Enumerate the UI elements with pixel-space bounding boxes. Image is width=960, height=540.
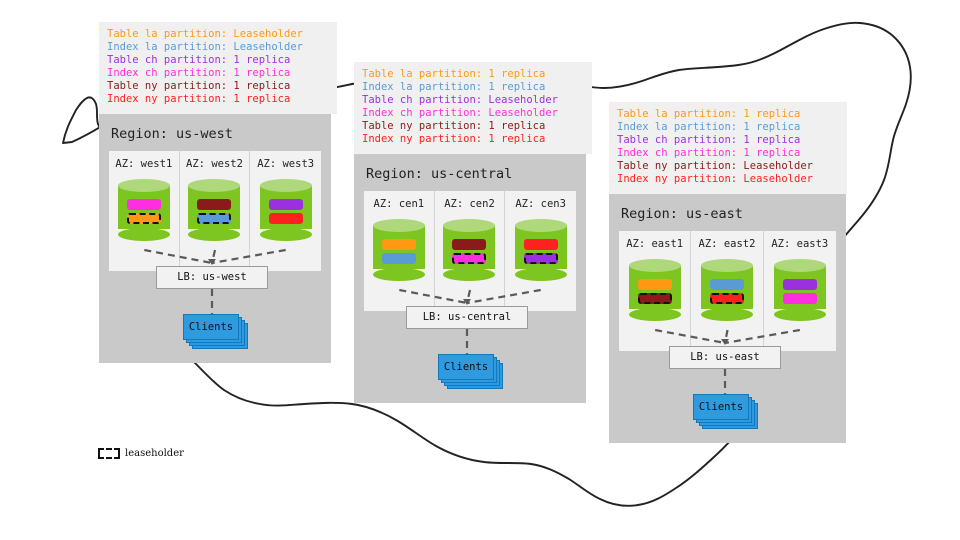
partition-band-replica: [638, 279, 672, 290]
database-cylinder: [188, 179, 240, 241]
az-cell-east1: AZ: east1: [619, 231, 691, 351]
cylinder-bottom: [260, 228, 312, 241]
legend-line: Index la partition: 1 replica: [362, 81, 584, 94]
az-label: AZ: cen2: [444, 198, 495, 210]
cylinder-bottom: [118, 228, 170, 241]
az-cell-west2: AZ: west2: [180, 151, 251, 271]
leaseholder-key-legend: leaseholder: [98, 448, 184, 459]
region-title: Region: us-east: [609, 194, 846, 222]
cylinder-bottom: [373, 268, 425, 281]
partition-legend-us-central: Table la partition: 1 replicaIndex la pa…: [354, 62, 592, 154]
cylinder-bottom: [629, 308, 681, 321]
legend-line: Index ny partition: 1 replica: [362, 133, 584, 146]
cylinder-top: [629, 259, 681, 272]
az-label: AZ: west2: [186, 158, 243, 170]
legend-line: Table ch partition: 1 replica: [617, 134, 839, 147]
partition-band-replica: [783, 293, 817, 304]
load-balancer-box-us-west[interactable]: LB: us-west: [156, 266, 268, 289]
cylinder-bottom: [515, 268, 567, 281]
database-cylinder: [260, 179, 312, 241]
cylinder-bottom: [188, 228, 240, 241]
az-strip: AZ: cen1AZ: cen2AZ: cen3: [364, 191, 576, 311]
legend-line: Table ny partition: 1 replica: [107, 80, 329, 93]
partition-band-replica: [710, 279, 744, 290]
az-cell-cen1: AZ: cen1: [364, 191, 435, 311]
legend-line: Index ny partition: Leaseholder: [617, 173, 839, 186]
region-title: Region: us-central: [354, 154, 586, 182]
az-cell-east2: AZ: east2: [691, 231, 763, 351]
partition-legend-us-east: Table la partition: 1 replicaIndex la pa…: [609, 102, 847, 194]
partition-legend-us-west: Table la partition: LeaseholderIndex la …: [99, 22, 337, 114]
region-title: Region: us-west: [99, 114, 331, 142]
clients-stack-us-central[interactable]: Clients: [438, 354, 503, 389]
az-cell-cen3: AZ: cen3: [505, 191, 576, 311]
cylinder-top: [774, 259, 826, 272]
az-label: AZ: west1: [115, 158, 172, 170]
cylinder-top: [515, 219, 567, 232]
partition-band-replica: [382, 253, 416, 264]
cylinder-top: [373, 219, 425, 232]
az-label: AZ: east3: [771, 238, 828, 250]
partition-band-replica: [524, 239, 558, 250]
partition-band-leaseholder: [524, 253, 558, 264]
cylinder-bottom: [774, 308, 826, 321]
partition-band-replica: [452, 239, 486, 250]
region-group-us-west: Table la partition: LeaseholderIndex la …: [99, 22, 337, 363]
az-label: AZ: east1: [626, 238, 683, 250]
partition-band-replica: [269, 213, 303, 224]
legend-line: Index la partition: Leaseholder: [107, 41, 329, 54]
az-strip: AZ: west1AZ: west2AZ: west3: [109, 151, 321, 271]
az-cell-cen2: AZ: cen2: [435, 191, 506, 311]
region-panel-us-west: Region: us-westAZ: west1AZ: west2AZ: wes…: [99, 114, 331, 363]
legend-line: Table la partition: 1 replica: [617, 108, 839, 121]
partition-band-replica: [382, 239, 416, 250]
partition-band-leaseholder: [710, 293, 744, 304]
database-cylinder: [443, 219, 495, 281]
az-label: AZ: east2: [699, 238, 756, 250]
cylinder-top: [118, 179, 170, 192]
az-cell-east3: AZ: east3: [764, 231, 836, 351]
az-cell-west1: AZ: west1: [109, 151, 180, 271]
az-label: AZ: west3: [257, 158, 314, 170]
cylinder-top: [188, 179, 240, 192]
partition-band-replica: [269, 199, 303, 210]
cylinder-bottom: [443, 268, 495, 281]
legend-line: Table la partition: 1 replica: [362, 68, 584, 81]
database-cylinder: [515, 219, 567, 281]
load-balancer-box-us-east[interactable]: LB: us-east: [669, 346, 781, 369]
region-group-us-east: Table la partition: 1 replicaIndex la pa…: [609, 102, 847, 443]
load-balancer-box-us-central[interactable]: LB: us-central: [406, 306, 528, 329]
legend-line: Index ny partition: 1 replica: [107, 93, 329, 106]
cylinder-bottom: [701, 308, 753, 321]
database-cylinder: [373, 219, 425, 281]
partition-band-leaseholder: [197, 213, 231, 224]
legend-line: Index ch partition: 1 replica: [617, 147, 839, 160]
az-cell-west3: AZ: west3: [250, 151, 321, 271]
leaseholder-key-label: leaseholder: [125, 448, 184, 459]
region-panel-us-east: Region: us-eastAZ: east1AZ: east2AZ: eas…: [609, 194, 846, 443]
clients-stack-us-east[interactable]: Clients: [693, 394, 758, 429]
legend-line: Index ch partition: 1 replica: [107, 67, 329, 80]
partition-band-leaseholder: [452, 253, 486, 264]
cylinder-top: [701, 259, 753, 272]
partition-band-replica: [783, 279, 817, 290]
partition-band-leaseholder: [127, 213, 161, 224]
legend-line: Index la partition: 1 replica: [617, 121, 839, 134]
az-strip: AZ: east1AZ: east2AZ: east3: [619, 231, 836, 351]
partition-band-replica: [127, 199, 161, 210]
database-cylinder: [118, 179, 170, 241]
az-label: AZ: cen1: [374, 198, 425, 210]
legend-line: Table ny partition: 1 replica: [362, 120, 584, 133]
cylinder-top: [443, 219, 495, 232]
database-cylinder: [629, 259, 681, 321]
partition-band-replica: [197, 199, 231, 210]
region-group-us-central: Table la partition: 1 replicaIndex la pa…: [354, 62, 592, 403]
database-cylinder: [774, 259, 826, 321]
dashed-outline-swatch: [98, 448, 120, 459]
clients-stack-us-west[interactable]: Clients: [183, 314, 248, 349]
clients-box[interactable]: Clients: [183, 314, 239, 340]
legend-line: Table la partition: Leaseholder: [107, 28, 329, 41]
legend-line: Table ch partition: Leaseholder: [362, 94, 584, 107]
cylinder-top: [260, 179, 312, 192]
az-label: AZ: cen3: [515, 198, 566, 210]
legend-line: Table ny partition: Leaseholder: [617, 160, 839, 173]
legend-line: Table ch partition: 1 replica: [107, 54, 329, 67]
region-panel-us-central: Region: us-centralAZ: cen1AZ: cen2AZ: ce…: [354, 154, 586, 403]
database-cylinder: [701, 259, 753, 321]
clients-box[interactable]: Clients: [438, 354, 494, 380]
partition-band-leaseholder: [638, 293, 672, 304]
legend-line: Index ch partition: Leaseholder: [362, 107, 584, 120]
clients-box[interactable]: Clients: [693, 394, 749, 420]
